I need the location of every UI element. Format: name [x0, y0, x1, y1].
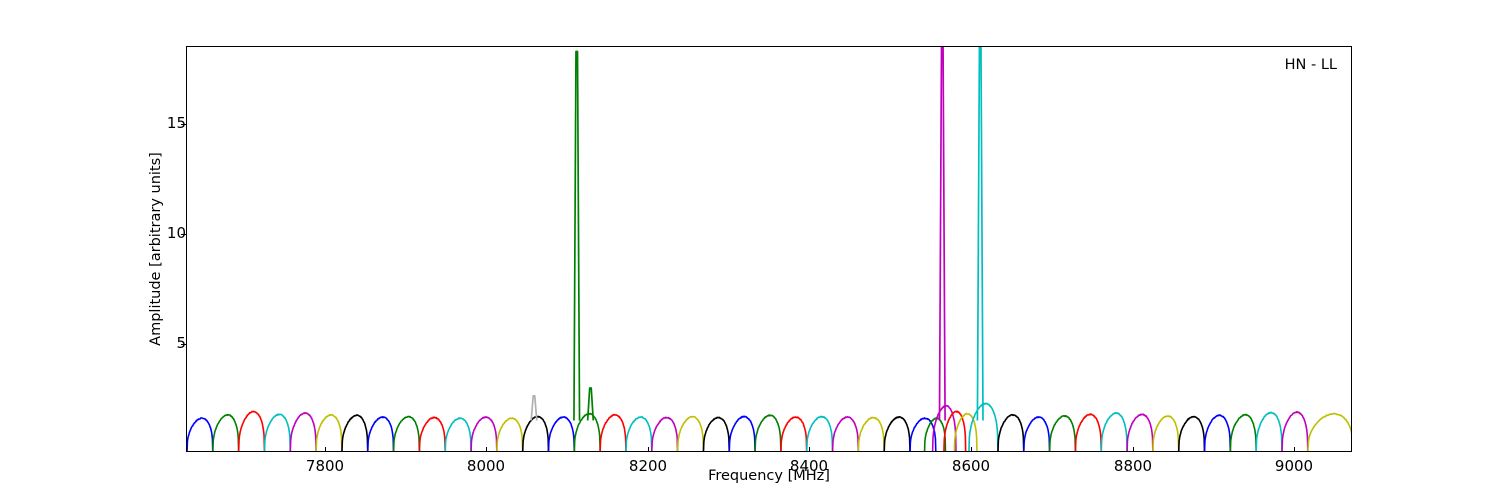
xtick-mark-8200: [648, 447, 649, 452]
spectrum-plot: [187, 47, 1352, 452]
plot-axes: HN - LL: [186, 46, 1352, 452]
legend-label: HN - LL: [1285, 57, 1337, 73]
xtick-mark-8800: [1133, 447, 1134, 452]
y-axis-label: Amplitude [arbitrary units]: [148, 46, 168, 452]
figure-canvas: HN - LL 15 10 5 7800 8000 8200 8400 8600…: [0, 0, 1500, 500]
xtick-mark-8400: [809, 447, 810, 452]
xtick-mark-7800: [325, 447, 326, 452]
xtick-mark-8600: [971, 447, 972, 452]
xtick-mark-9000: [1294, 447, 1295, 452]
x-axis-label: Frequency [MHz]: [186, 468, 1352, 484]
xtick-mark-8000: [486, 447, 487, 452]
